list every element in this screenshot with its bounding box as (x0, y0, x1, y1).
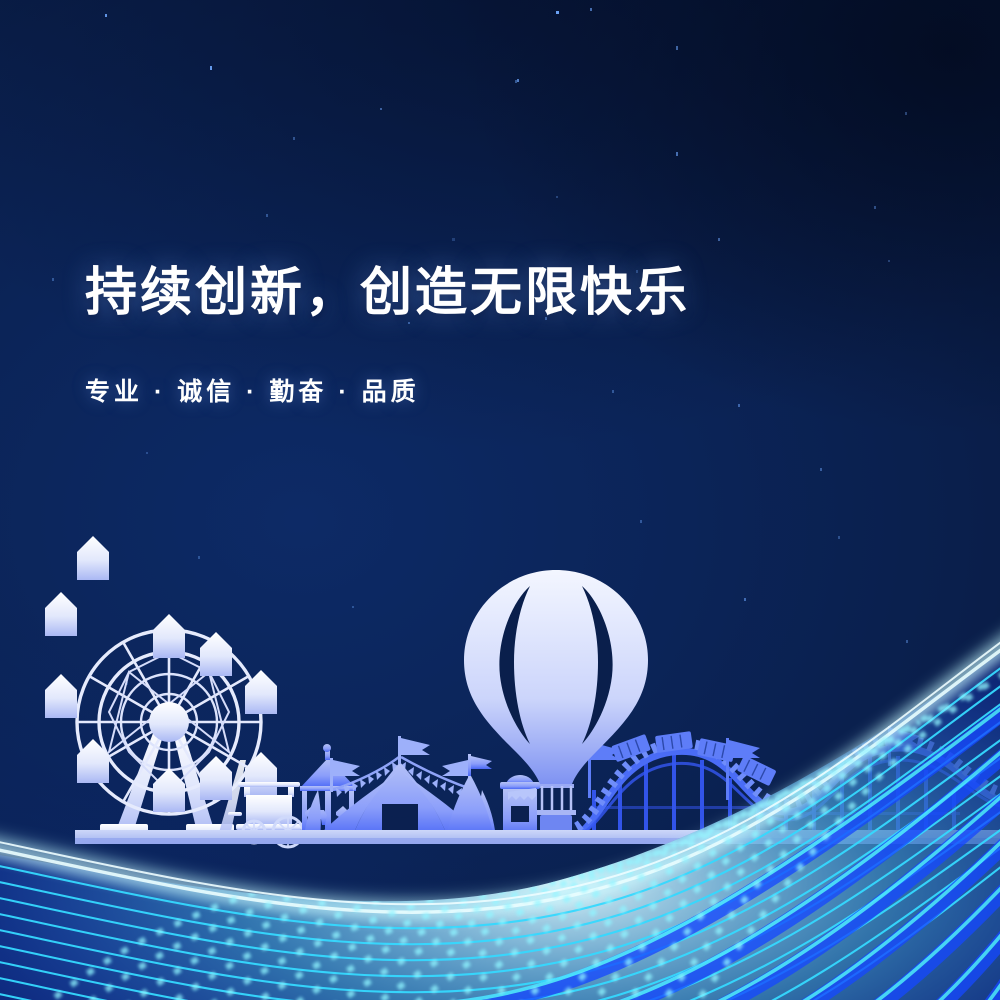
page-title: 持续创新，创造无限快乐 (85, 264, 690, 324)
banner-canvas: 持续创新，创造无限快乐 专业 · 诚信 · 勤奋 · 品质 (0, 0, 1000, 1000)
glowing-wave-mesh (0, 0, 1000, 1000)
page-subtitle: 专业 · 诚信 · 勤奋 · 品质 (85, 372, 420, 408)
